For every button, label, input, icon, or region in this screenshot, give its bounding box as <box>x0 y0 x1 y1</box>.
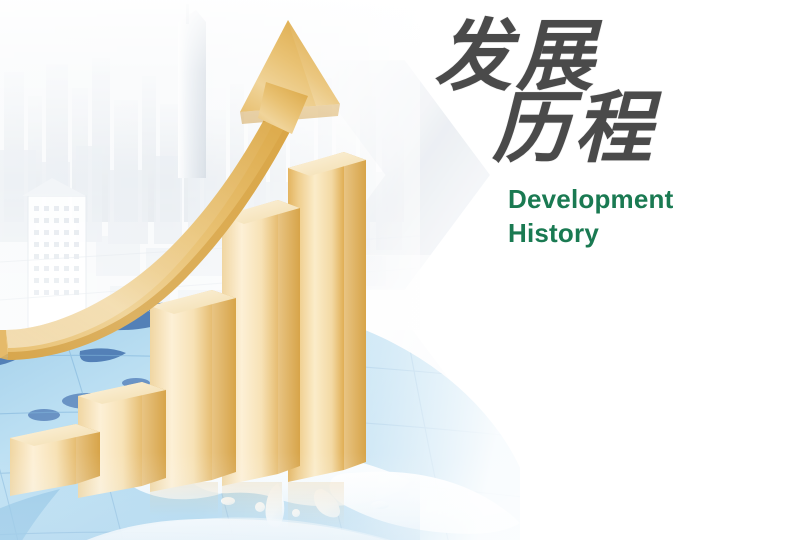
english-title-line-2: History <box>508 216 770 250</box>
headline-block: 发展 历程 Development History <box>430 18 770 251</box>
rising-arrow-icon <box>0 0 420 400</box>
chinese-title-line-2: 历程 <box>492 90 770 168</box>
development-history-banner: 发展 历程 Development History Development Hi… <box>0 0 800 540</box>
english-title-line-1: Development <box>508 182 770 216</box>
